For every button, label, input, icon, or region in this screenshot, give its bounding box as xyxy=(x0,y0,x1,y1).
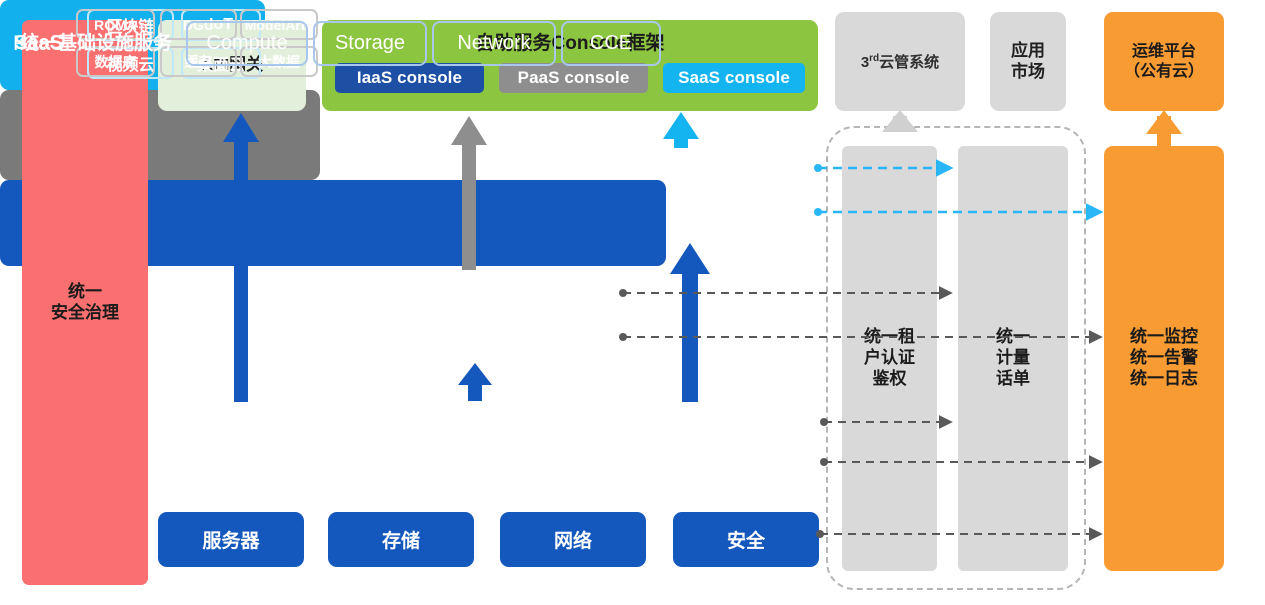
ops-platform-public-cloud-label: 运维平台 （公有云） xyxy=(1124,42,1204,81)
arrow-saas-to-console xyxy=(663,112,699,148)
arrow-infra-to-saas xyxy=(670,243,710,402)
unified-tenant-auth-column: 统一租 户认证 鉴权 xyxy=(842,146,937,571)
architecture-diagram: 统一 安全治理 API网关 自助服务Console框架 IaaS console… xyxy=(0,0,1265,605)
resource-box-network[interactable]: 网络 xyxy=(500,512,646,567)
third-party-cloud-mgmt-box: 3rd云管系统 xyxy=(835,12,965,111)
resource-box-server[interactable]: 服务器 xyxy=(158,512,304,567)
iaas-console-chip[interactable]: IaaS console xyxy=(335,63,484,93)
third-party-cloud-label: 3rd云管系统 xyxy=(861,51,939,72)
security-governance-panel: 统一 安全治理 xyxy=(22,20,148,585)
unified-tenant-auth-label: 统一租 户认证 鉴权 xyxy=(864,327,915,389)
infra-chip-storage[interactable]: Storage xyxy=(313,21,427,66)
unified-ops-label: 统一监控 统一告警 统一日志 xyxy=(1130,327,1198,389)
resource-box-storage[interactable]: 存储 xyxy=(328,512,474,567)
resource-box-security[interactable]: 安全 xyxy=(673,512,819,567)
infra-chip-cce[interactable]: CCE xyxy=(561,21,661,66)
paas-console-chip[interactable]: PaaS console xyxy=(499,63,648,93)
saas-console-chip[interactable]: SaaS console xyxy=(663,63,805,93)
unified-metering-column: 统一 计量 话单 xyxy=(958,146,1068,571)
app-market-box: 应用 市场 xyxy=(990,12,1066,111)
arrow-ops-panel-up xyxy=(1146,110,1182,146)
ops-platform-public-cloud-box: 运维平台 （公有云） xyxy=(1104,12,1224,111)
infra-chip-compute[interactable]: Compute xyxy=(186,21,308,66)
arrow-infra-to-paas xyxy=(458,363,492,401)
security-governance-label: 统一 安全治理 xyxy=(51,282,119,323)
infra-chip-network[interactable]: Network xyxy=(432,21,556,66)
unified-infrastructure-label: 统一基础设施服务 xyxy=(20,28,172,55)
unified-ops-panel: 统一监控 统一告警 统一日志 xyxy=(1104,146,1224,571)
app-market-label: 应用 市场 xyxy=(1011,41,1045,82)
unified-metering-label: 统一 计量 话单 xyxy=(996,327,1030,389)
